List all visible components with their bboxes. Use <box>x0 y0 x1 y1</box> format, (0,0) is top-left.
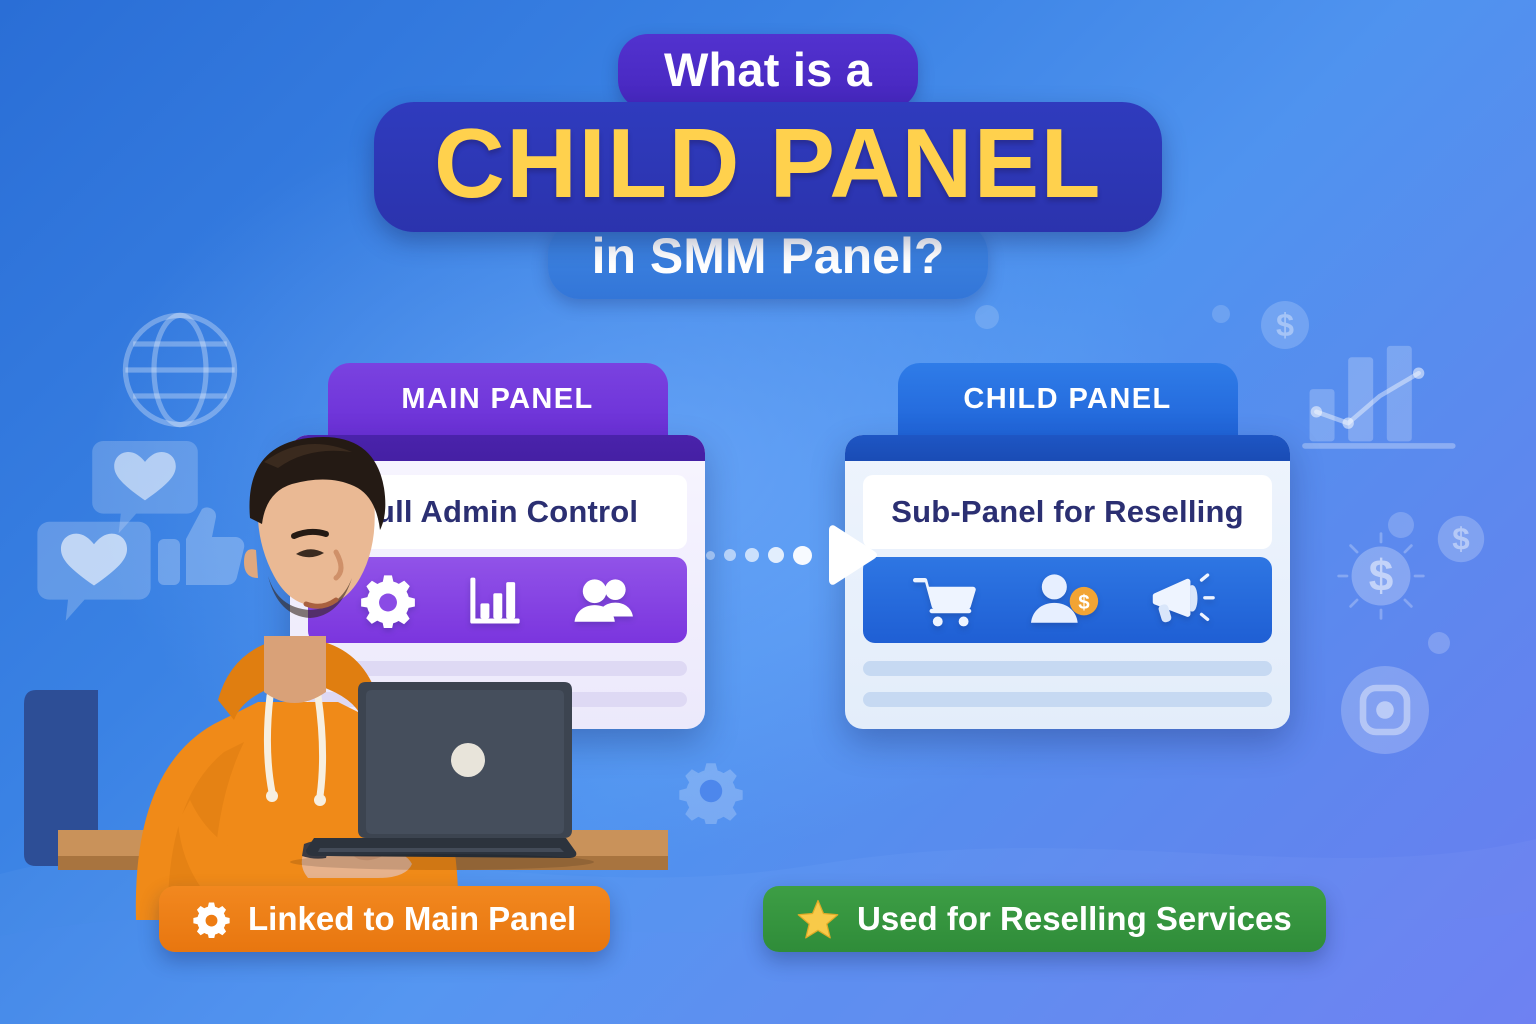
placeholder-line <box>863 692 1272 707</box>
badge-used-for-reselling-services[interactable]: Used for Reselling Services <box>763 886 1326 952</box>
badge-label: Used for Reselling Services <box>857 900 1292 938</box>
title-line-2: CHILD PANEL <box>434 116 1102 210</box>
connector-dot <box>724 549 736 561</box>
svg-text:$: $ <box>1276 307 1294 343</box>
arrow-head-icon <box>823 524 879 586</box>
bubble-decoration <box>975 305 999 329</box>
dollar-coin-icon: $ <box>1335 530 1427 622</box>
bubble-decoration <box>1428 632 1450 654</box>
title-line-1: What is a <box>618 34 918 110</box>
gear-icon <box>678 758 744 824</box>
title-line-2-pill: CHILD PANEL <box>374 102 1162 232</box>
child-panel-headline: Sub-Panel for Reselling <box>863 475 1272 549</box>
user-dollar-icon[interactable]: $ <box>1027 571 1101 629</box>
child-panel-tab-label: CHILD PANEL <box>898 363 1238 441</box>
title-line-3: in SMM Panel? <box>548 222 989 299</box>
connector-dot <box>706 551 715 560</box>
connector-dot <box>793 546 812 565</box>
dollar-coin-icon: $ <box>1255 295 1315 355</box>
megaphone-icon[interactable] <box>1150 571 1222 629</box>
child-panel-body: Sub-Panel for Reselling $ <box>845 435 1290 729</box>
title-block: What is a CHILD PANEL in SMM Panel? <box>0 34 1536 299</box>
bubble-decoration <box>1388 512 1414 538</box>
connector-dot <box>745 548 759 562</box>
svg-text:$: $ <box>1369 552 1394 601</box>
shopping-cart-icon[interactable] <box>913 572 979 628</box>
man-working-on-laptop <box>18 400 678 920</box>
camera-icon <box>1330 655 1440 765</box>
child-panel-icon-bar: $ <box>863 557 1272 643</box>
connector-dot <box>768 547 784 563</box>
child-panel-placeholder-lines <box>863 661 1272 707</box>
star-icon <box>797 898 839 940</box>
child-panel-titlebar <box>845 435 1290 461</box>
dollar-coin-icon: $ <box>1432 510 1490 568</box>
placeholder-line <box>863 661 1272 676</box>
svg-text:$: $ <box>1452 521 1469 556</box>
gear-icon <box>193 901 230 938</box>
badge-linked-to-main-panel[interactable]: Linked to Main Panel <box>159 886 610 952</box>
bubble-decoration <box>1212 305 1230 323</box>
bar-chart-trend-icon <box>1300 330 1460 455</box>
svg-text:$: $ <box>1079 591 1091 614</box>
badge-label: Linked to Main Panel <box>248 900 576 938</box>
arrow-connector <box>706 524 879 586</box>
